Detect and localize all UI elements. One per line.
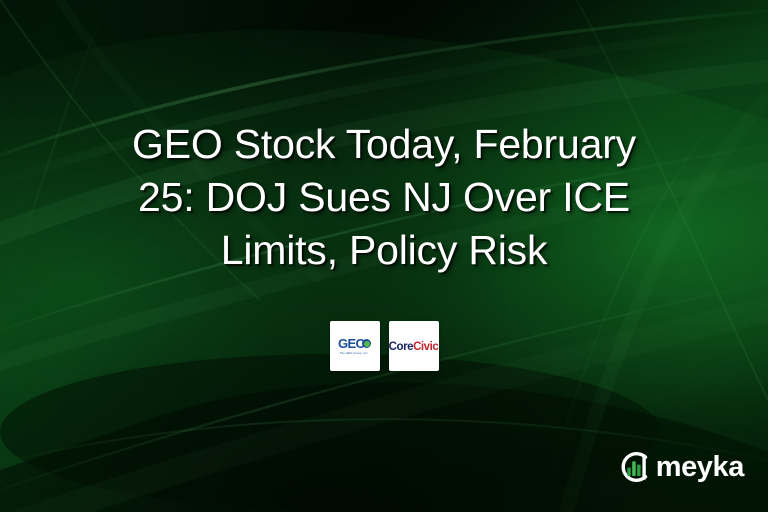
company-logo-row: GEO The GEO Group, Inc. CoreCivic xyxy=(0,321,768,371)
headline-line-1: GEO Stock Today, February xyxy=(40,118,728,171)
geo-logo-mark: GEO xyxy=(338,337,371,350)
corecivic-logo-card: CoreCivic xyxy=(389,321,439,371)
corecivic-wordmark-core: Core xyxy=(389,341,413,353)
geo-logo-wordmark: GEO xyxy=(338,337,365,350)
article-banner: GEO Stock Today, February 25: DOJ Sues N… xyxy=(0,0,768,512)
headline-line-2: 25: DOJ Sues NJ Over ICE xyxy=(40,171,728,224)
geo-group-logo-card: GEO The GEO Group, Inc. xyxy=(330,321,380,371)
geo-logo-tagline: The GEO Group, Inc. xyxy=(340,351,369,355)
meyka-circle-bars-icon xyxy=(615,448,653,486)
corecivic-logo-mark: CoreCivic xyxy=(389,337,439,355)
page-title: GEO Stock Today, February 25: DOJ Sues N… xyxy=(0,118,768,277)
corecivic-wordmark-civic: Civic xyxy=(413,341,438,353)
headline-line-3: Limits, Policy Risk xyxy=(40,224,728,277)
geo-swoosh-icon xyxy=(362,339,371,348)
meyka-brand-logo: meyka xyxy=(615,448,744,486)
meyka-wordmark: meyka xyxy=(656,453,744,482)
